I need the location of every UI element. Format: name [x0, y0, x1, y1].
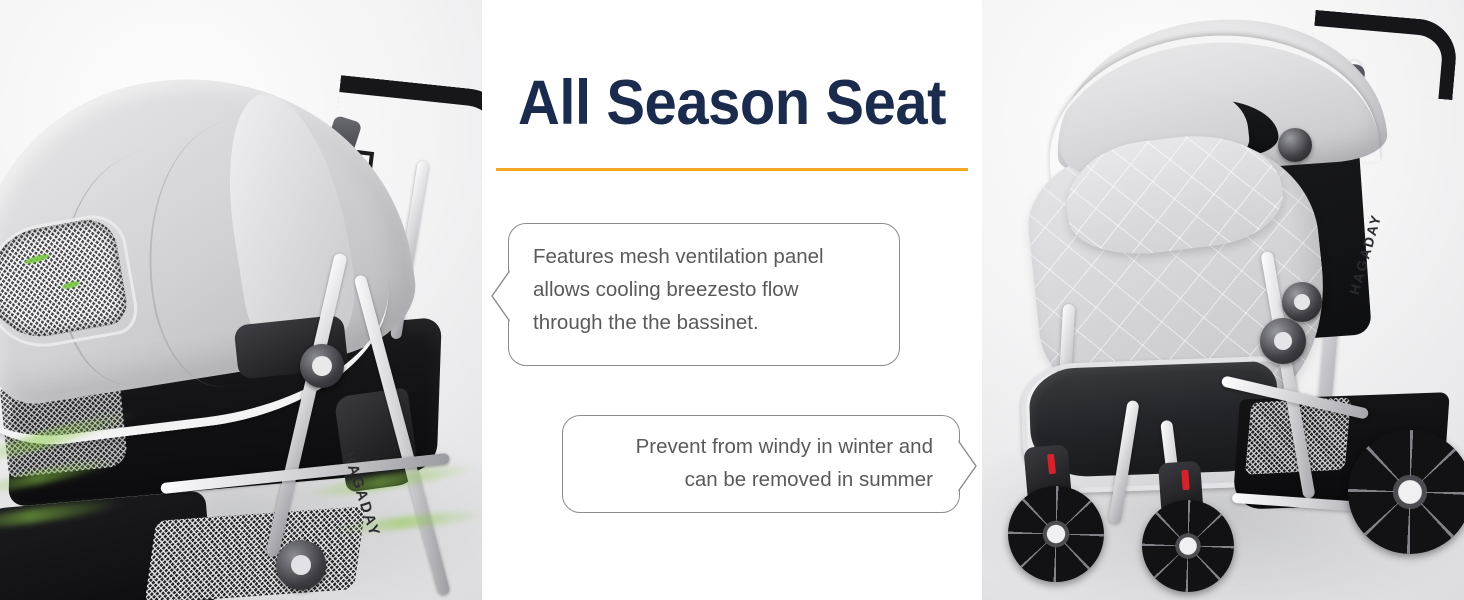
basket-mesh-panel-lower — [144, 506, 365, 600]
content-panel: All Season Seat Features mesh ventilatio… — [482, 0, 982, 600]
wheel-spokes — [1348, 430, 1464, 554]
frame-hub — [1278, 128, 1312, 162]
callout-line: through the the bassinet. — [533, 306, 881, 339]
wheel-spokes — [1142, 500, 1234, 592]
callout-tail-left-icon — [490, 268, 512, 324]
stroller-seat-mode-photo: HAGADAY — [982, 0, 1464, 600]
stroller-bassinet-mode-photo: HAGADAY — [0, 0, 482, 600]
page-title: All Season Seat — [515, 72, 949, 135]
frame-hub-cap — [312, 356, 332, 376]
wheel-spokes — [1008, 486, 1104, 582]
callout-line: Features mesh ventilation panel — [533, 240, 881, 273]
windproof-callout: Prevent from windy in winter and can be … — [562, 415, 960, 513]
brake-tab — [1181, 470, 1189, 490]
callout-line: can be removed in summer — [581, 463, 933, 496]
callout-line: allows cooling breezesto flow — [533, 273, 881, 306]
ventilation-callout: Features mesh ventilation panel allows c… — [508, 223, 900, 366]
callout-line: Prevent from windy in winter and — [581, 430, 933, 463]
callout-tail-right-icon — [956, 438, 978, 494]
all-season-seat-banner: HAGADAY — [0, 0, 1464, 600]
frame-hub-cap — [1274, 332, 1292, 350]
frame-hub-cap — [1294, 294, 1310, 310]
title-underline-rule — [496, 168, 968, 171]
frame-hub-cap — [291, 555, 311, 575]
